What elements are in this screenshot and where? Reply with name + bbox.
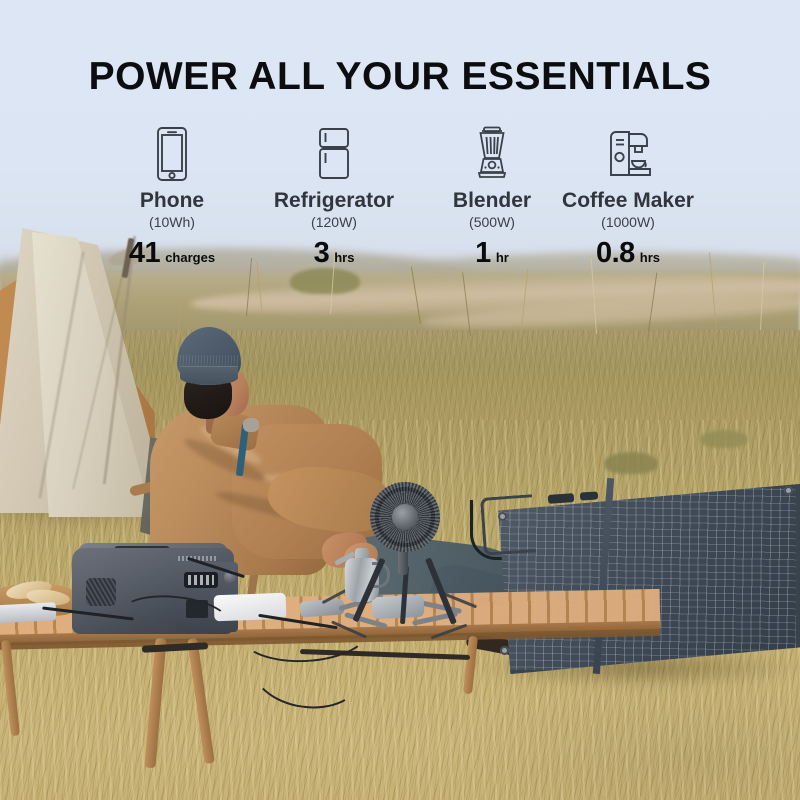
- appliance-metric: 1hr: [430, 237, 554, 270]
- page-title: POWER ALL YOUR ESSENTIALS: [0, 55, 800, 99]
- metric-unit: hr: [496, 250, 509, 265]
- metric-value: 3: [314, 237, 330, 269]
- drone: [371, 595, 424, 620]
- solar-panel-grommet: [784, 486, 793, 495]
- screenshot-canvas: POWER ALL YOUR ESSENTIALS Phone (10Wh) 4…: [0, 0, 800, 800]
- solar-panel-clip: [580, 491, 599, 500]
- metric-value: 0.8: [596, 237, 635, 269]
- blender-icon: [430, 118, 554, 182]
- solar-panel-clip: [548, 493, 575, 504]
- grass-tuft: [290, 268, 360, 294]
- appliance-rating: (500W): [430, 214, 554, 230]
- appliance-rating: (10Wh): [112, 214, 232, 230]
- laptop-device: [0, 602, 56, 624]
- grass-tuft: [700, 430, 748, 448]
- appliance-rating: (1000W): [552, 214, 704, 230]
- power-station-vent: [86, 578, 116, 606]
- metric-value: 1: [475, 237, 491, 269]
- metric-unit: charges: [165, 250, 215, 265]
- appliance-name: Refrigerator: [258, 190, 410, 212]
- coffee-maker-icon: [552, 118, 704, 182]
- metric-unit: hrs: [334, 250, 354, 265]
- appliance-name: Coffee Maker: [552, 190, 704, 212]
- appliance-name: Blender: [430, 190, 554, 212]
- appliance-metric: 3hrs: [258, 237, 410, 270]
- appliance-column-refrigerator: Refrigerator (120W) 3hrs: [258, 118, 410, 270]
- appliance-metric: 0.8hrs: [552, 237, 704, 270]
- power-station-display-readout: [188, 575, 214, 585]
- beanie-cuff: [180, 366, 238, 384]
- appliance-column-coffee-maker: Coffee Maker (1000W) 0.8hrs: [552, 118, 704, 270]
- grass-tuft: [604, 452, 658, 474]
- appliance-name: Phone: [112, 190, 232, 212]
- refrigerator-icon: [258, 118, 410, 182]
- header-overlay: POWER ALL YOUR ESSENTIALS Phone (10Wh) 4…: [0, 0, 800, 270]
- appliance-rating: (120W): [258, 214, 410, 230]
- appliance-metric: 41charges: [112, 237, 232, 270]
- metric-unit: hrs: [640, 250, 660, 265]
- appliance-column-blender: Blender (500W) 1hr: [430, 118, 554, 270]
- metric-value: 41: [129, 237, 160, 269]
- fan-hub: [392, 504, 418, 530]
- lanyard-clip: [243, 418, 259, 432]
- appliance-row: Phone (10Wh) 41charges Refrigerator: [0, 118, 800, 268]
- solar-panel-stand: [480, 494, 536, 555]
- solar-panel-grommet: [500, 646, 509, 655]
- phone-icon: [112, 118, 232, 182]
- appliance-column-phone: Phone (10Wh) 41charges: [112, 118, 232, 270]
- solar-panel-frame: [492, 484, 800, 674]
